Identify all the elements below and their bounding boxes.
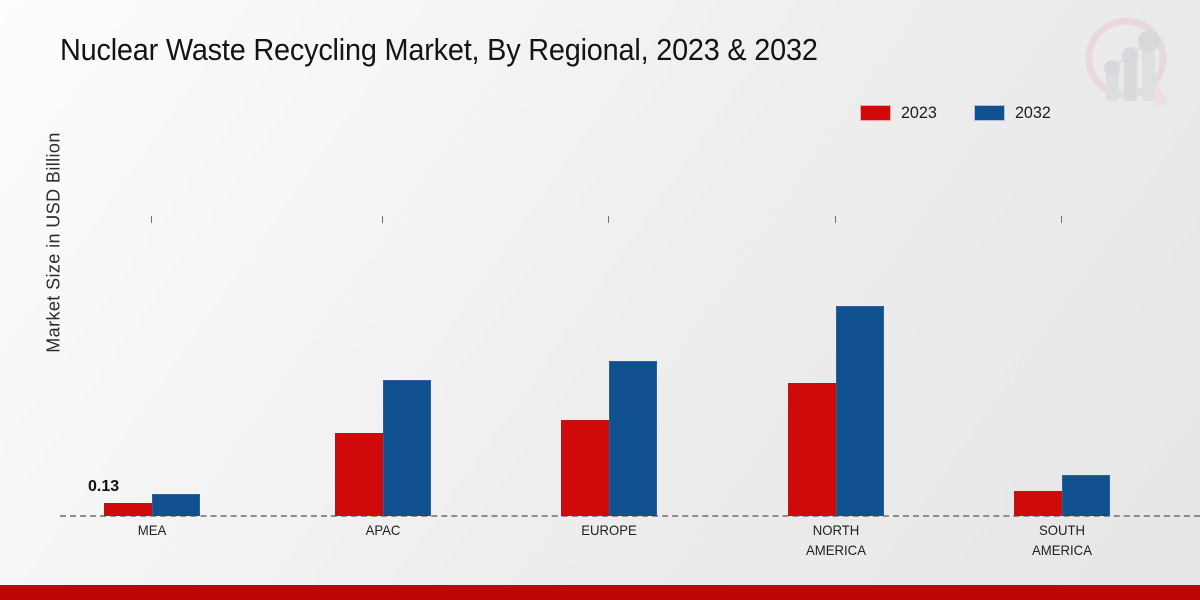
bar-group-mea: 0.13 MEA — [72, 216, 232, 516]
x-axis-label-mea-line1: MEA — [138, 522, 167, 538]
plot-area: 0.13 MEA APAC EUROPE — [0, 0, 1200, 600]
bar-2023-apac[interactable] — [335, 433, 383, 516]
x-tick-europe — [608, 216, 609, 223]
bar-2032-south-america[interactable] — [1062, 475, 1110, 516]
bar-2023-europe[interactable] — [561, 420, 609, 516]
footer-accent-strip — [0, 585, 1200, 600]
x-axis-label-south-america-line2: AMERICA — [987, 540, 1137, 560]
bar-data-label-mea-2023: 0.13 — [88, 478, 119, 496]
x-axis-label-south-america-line1: SOUTH — [1039, 522, 1085, 538]
bar-2023-mea[interactable] — [104, 503, 152, 516]
chart-canvas: Nuclear Waste Recycling Market, By Regio… — [0, 0, 1200, 600]
x-axis-label-north-america-line1: NORTH — [813, 522, 860, 538]
bar-group-south-america: SOUTH AMERICA — [982, 216, 1142, 516]
x-axis-label-apac-line1: APAC — [366, 522, 401, 538]
bar-2023-south-america[interactable] — [1014, 491, 1062, 516]
bar-2032-mea[interactable] — [152, 494, 200, 516]
x-tick-apac — [382, 216, 383, 223]
bar-group-europe: EUROPE — [529, 216, 689, 516]
x-axis-label-mea: MEA — [77, 520, 227, 540]
x-axis-label-apac: APAC — [308, 520, 458, 540]
x-axis-label-north-america-line2: AMERICA — [761, 540, 911, 560]
x-axis-label-europe: EUROPE — [534, 520, 684, 540]
bar-2032-europe[interactable] — [609, 361, 657, 516]
bar-group-north-america: NORTH AMERICA — [756, 216, 916, 516]
x-axis-label-europe-line1: EUROPE — [581, 522, 637, 538]
bar-2032-north-america[interactable] — [836, 306, 884, 516]
x-tick-south-america — [1061, 216, 1062, 223]
bar-2032-apac[interactable] — [383, 380, 431, 516]
x-tick-north-america — [835, 216, 836, 223]
x-axis-label-south-america: SOUTH AMERICA — [987, 520, 1137, 560]
bar-group-apac: APAC — [303, 216, 463, 516]
bar-2023-north-america[interactable] — [788, 383, 836, 516]
x-axis-label-north-america: NORTH AMERICA — [761, 520, 911, 560]
x-tick-mea — [151, 216, 152, 223]
